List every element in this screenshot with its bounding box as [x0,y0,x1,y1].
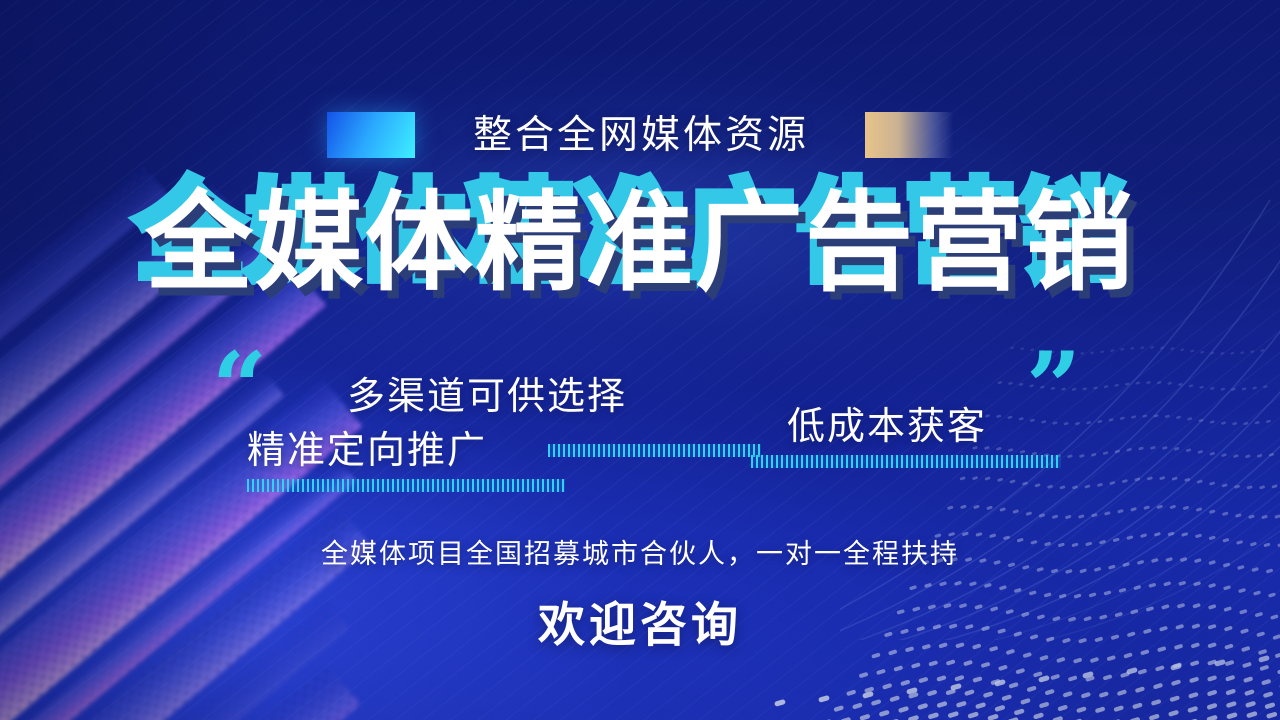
poster-canvas: 整合全网媒体资源 全媒体精准广告营销 全媒体精准广告营销 全媒体精准广告营销 “… [0,0,1280,720]
benefit-text-1: 多渠道可供选择 [347,378,627,416]
poster-content: 整合全网媒体资源 全媒体精准广告营销 全媒体精准广告营销 全媒体精准广告营销 “… [0,0,1280,720]
gold-chip-icon [865,112,953,158]
benefit-text-2: 精准定向推广 [247,432,487,470]
headline-wrapper: 全媒体精准广告营销 全媒体精准广告营销 全媒体精准广告营销 [0,190,1280,320]
headline-front-layer: 全媒体精准广告营销 [145,190,1135,298]
blue-chip-icon [327,112,415,158]
benefit-text-3: 低成本获客 [787,408,987,446]
striped-rule-2 [247,479,565,492]
striped-rule-1 [548,444,761,457]
quote-close-icon: ” [1026,340,1081,436]
eyebrow-text: 整合全网媒体资源 [473,116,809,155]
recruit-line: 全媒体项目全国招募城市合伙人，一对一全程扶持 [0,541,1280,568]
main-headline: 全媒体精准广告营销 全媒体精准广告营销 全媒体精准广告营销 [145,190,1135,298]
cta-text: 欢迎咨询 [0,602,1280,649]
eyebrow-row: 整合全网媒体资源 [0,112,1280,158]
quote-open-icon: “ [212,340,267,436]
striped-rule-3 [751,455,1061,468]
